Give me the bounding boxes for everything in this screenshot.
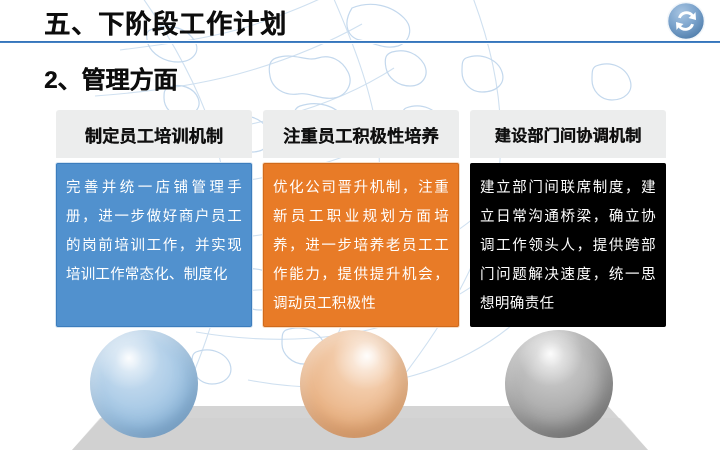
column-header: 建设部门间协调机制 (470, 110, 666, 158)
column-header-label: 建设部门间协调机制 (495, 122, 642, 146)
column-header-label: 注重员工积极性培养 (283, 122, 439, 147)
section-title: 2、管理方面 (44, 60, 177, 95)
column-header: 注重员工积极性培养 (263, 110, 459, 158)
sphere-blue (90, 330, 198, 438)
page-title: 五、下阶段工作计划 (44, 4, 287, 41)
header-divider (0, 40, 720, 44)
column-body-text: 优化公司晋升机制，注重新员工职业规划方面培养，进一步培养老员工工作能力，提供提升… (273, 174, 449, 319)
column-header-label: 制定员工培训机制 (85, 122, 223, 147)
column-card-blue: 完善并统一店铺管理手册，进一步做好商户员工的岗前培训工作，并实现培训工作常态化、… (56, 163, 252, 327)
column-body-text: 完善并统一店铺管理手册，进一步做好商户员工的岗前培训工作，并实现培训工作常态化、… (66, 174, 242, 290)
column-interdept-coordination: 建设部门间协调机制 建立部门间联席制度，建立日常沟通桥梁，确立协调工作领头人，提… (470, 110, 666, 327)
slide-canvas: 五、下阶段工作计划 2、管理方面 制定员工培训机制 完善并统一店铺管理手册，进一… (0, 0, 720, 450)
column-header: 制定员工培训机制 (56, 110, 252, 158)
sphere-gray (505, 330, 613, 438)
column-card-orange: 优化公司晋升机制，注重新员工职业规划方面培养，进一步培养老员工工作能力，提供提升… (263, 163, 459, 327)
column-body-text: 建立部门间联席制度，建立日常沟通桥梁，确立协调工作领头人，提供跨部门问题解决速度… (480, 174, 656, 319)
column-motivation-cultivation: 注重员工积极性培养 优化公司晋升机制，注重新员工职业规划方面培养，进一步培养老员… (263, 110, 459, 327)
column-training-mechanism: 制定员工培训机制 完善并统一店铺管理手册，进一步做好商户员工的岗前培训工作，并实… (56, 110, 252, 327)
sphere-orange (300, 330, 408, 438)
refresh-sync-icon[interactable] (666, 1, 706, 41)
column-card-black: 建立部门间联席制度，建立日常沟通桥梁，确立协调工作领头人，提供跨部门问题解决速度… (470, 163, 666, 327)
